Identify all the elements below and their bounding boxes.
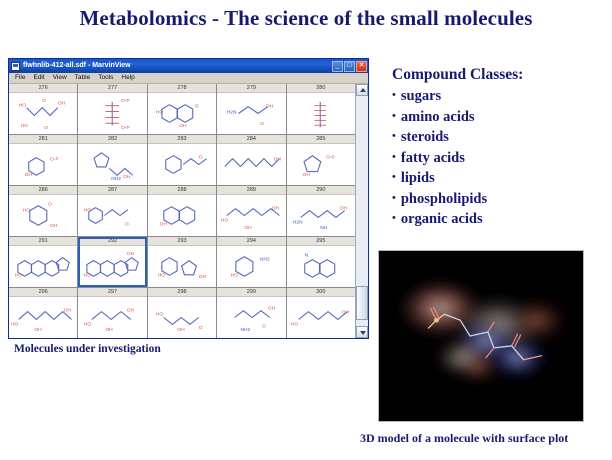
molecule-cell-id: 292 (78, 237, 146, 246)
menu-item-table[interactable]: Table (71, 73, 95, 83)
svg-text:O: O (42, 98, 46, 104)
molecule-cell[interactable]: 288OH (148, 186, 216, 236)
svg-text:HO: HO (291, 321, 299, 327)
menu-item-help[interactable]: Help (117, 73, 138, 83)
compound-class-item: sugars (392, 86, 523, 107)
close-icon: ✕ (357, 61, 366, 70)
svg-text:OH: OH (58, 101, 66, 107)
molecule-structure-arginine: H2NOHNH (287, 195, 355, 236)
molecule-cell[interactable]: 277O-PO-P (78, 84, 146, 134)
molecule-cell-id: 294 (217, 237, 285, 246)
svg-text:OH: OH (274, 157, 282, 163)
molecule-cell[interactable]: 296HOOHOH (9, 288, 77, 338)
compound-class-item: steroids (392, 127, 523, 148)
svg-text:OH: OH (123, 174, 131, 180)
svg-text:HO: HO (221, 217, 229, 223)
molecule-structure-pyrazole-amino-acid: OHNH2 (78, 144, 146, 185)
svg-text:HO: HO (84, 272, 92, 278)
molecule-structure-malic-acid: HOOHHOOO (9, 93, 77, 134)
molecule-cell[interactable]: 300HOOH (287, 288, 355, 338)
svg-text:OH: OH (106, 327, 114, 333)
molecule-cell-id: 298 (148, 288, 216, 297)
molecule-cell[interactable]: 284OH (217, 135, 285, 185)
molecule-structure-sugar-bisphosphate: O-PO-P (78, 93, 146, 134)
svg-text:NH: NH (320, 225, 328, 231)
svg-text:O: O (48, 202, 52, 208)
svg-text:OH: OH (64, 308, 72, 314)
compound-class-item: fatty acids (392, 148, 523, 169)
molecule-structure-open-chain-polyol: HOOHOH (217, 195, 285, 236)
molecule-cell-id: 282 (78, 135, 146, 144)
maximize-button[interactable]: □ (344, 61, 355, 72)
compound-classes-heading: Compound Classes: (392, 66, 523, 84)
svg-text:O: O (199, 155, 203, 161)
svg-text:HO: HO (84, 208, 92, 214)
scroll-up-arrow[interactable] (356, 84, 368, 96)
svg-text:NH2: NH2 (241, 327, 251, 333)
molecule-structure-pyranose-sugar: HOOHO (9, 195, 77, 236)
svg-text:HO: HO (84, 321, 92, 327)
svg-text:OH: OH (245, 225, 253, 231)
molecule-cell[interactable]: 293HOOH (148, 237, 216, 287)
svg-text:OH: OH (127, 251, 135, 257)
svg-text:HO: HO (158, 272, 166, 278)
molecule-cell-id: 299 (217, 288, 285, 297)
menu-item-tools[interactable]: Tools (94, 73, 117, 83)
compound-class-item: organic acids (392, 209, 523, 230)
molecule-structure-erythritol: HOOHOH (9, 297, 77, 338)
molecule-cell[interactable]: 282OHNH2 (78, 135, 146, 185)
svg-text:OH: OH (179, 123, 187, 129)
molecule-cell-id: 291 (9, 237, 77, 246)
molecule-cell[interactable]: 276HOOHHOOO (9, 84, 77, 134)
molecule-cell[interactable]: 279H2NOHO (217, 84, 285, 134)
molecule-cell-id: 297 (78, 288, 146, 297)
molecule-cell[interactable]: 299OHONH2 (217, 288, 285, 338)
svg-text:OH: OH (302, 172, 310, 178)
molecule-structure-chain-diol: HOOH (287, 297, 355, 338)
svg-text:OH: OH (339, 206, 347, 212)
svg-text:N: N (304, 253, 308, 259)
svg-text:HO: HO (156, 312, 164, 318)
window-title: flwhnlib-412-all.sdf - MarvinView (23, 61, 332, 71)
svg-text:O: O (125, 221, 129, 227)
scrollbar-track[interactable] (356, 96, 368, 326)
molecule-cell[interactable]: 297HOOHOH (78, 288, 146, 338)
molecule-grid: 276HOOHHOOO277O-PO-P278HOOHO279H2NOHO280… (9, 84, 355, 338)
molecule-cell-id: 287 (78, 186, 146, 195)
molecule-app-icon (11, 62, 20, 71)
svg-text:O: O (44, 125, 48, 131)
molecule-cell[interactable]: 285O-POH (287, 135, 355, 185)
marvinview-window: flwhnlib-412-all.sdf - MarvinView _ □ ✕ … (8, 58, 369, 339)
menu-item-edit[interactable]: Edit (29, 73, 48, 83)
svg-text:OH: OH (25, 172, 33, 178)
molecule-cell[interactable]: 283O (148, 135, 216, 185)
svg-text:O: O (260, 121, 264, 127)
svg-text:O: O (262, 323, 266, 329)
molecule-structure-threonine: OHONH2 (217, 297, 285, 338)
molecule-structure-glycerol: HOOHOH (78, 297, 146, 338)
3d-model-graphic (379, 251, 583, 421)
molecule-cell-id: 289 (217, 186, 285, 195)
molecule-cell[interactable]: 294HONH2 (217, 237, 285, 287)
caption-3d-model: 3D model of a molecule with surface plot (360, 431, 568, 446)
molecule-structure-phenoxy-ester: HOO (78, 195, 146, 236)
menu-item-file[interactable]: File (11, 73, 29, 83)
svg-text:HO: HO (11, 321, 19, 327)
molecule-structure-amino-sugar: HONH2 (217, 246, 285, 287)
molecule-structure-glycine: H2NOHO (217, 93, 285, 134)
window-buttons: _ □ ✕ (332, 61, 367, 72)
compound-class-item: amino acids (392, 107, 523, 128)
svg-text:O: O (199, 325, 203, 331)
svg-text:NH2: NH2 (112, 176, 122, 182)
molecule-cell[interactable]: 295N (287, 237, 355, 287)
molecule-structure-tetrahydroquinoline: N (287, 246, 355, 287)
svg-text:OH: OH (341, 310, 349, 316)
minimize-button[interactable]: _ (332, 61, 343, 72)
menu-bar: File Edit View Table Tools Help (9, 73, 368, 84)
molecule-cell[interactable]: 292HOOH (78, 237, 146, 287)
svg-text:OH: OH (177, 327, 185, 333)
molecule-cell[interactable]: 290H2NOHNH (287, 186, 355, 236)
scroll-down-arrow[interactable] (356, 326, 368, 338)
svg-text:OH: OH (50, 223, 58, 229)
compound-classes-list: sugarsamino acidssteroidsfatty acidslipi… (392, 86, 523, 230)
molecule-cell-id: 300 (287, 288, 355, 297)
molecule-cell-id: 281 (9, 135, 77, 144)
compound-class-item: phospholipids (392, 189, 523, 210)
molecule-cell-id: 296 (9, 288, 77, 297)
minimize-icon: _ (333, 61, 342, 70)
molecule-structure-sugar-phosphate: O-POH (9, 144, 77, 185)
svg-text:OH: OH (266, 104, 274, 110)
svg-text:HO: HO (21, 123, 29, 129)
molecule-grid-body: 276HOOHHOOO277O-PO-P278HOOHO279H2NOHO280… (9, 84, 368, 338)
svg-text:HO: HO (231, 272, 239, 278)
molecule-structure-steroid: HO (9, 246, 77, 287)
svg-text:OH: OH (268, 306, 276, 312)
molecule-cell-id: 279 (217, 84, 285, 93)
svg-text:HO: HO (23, 208, 31, 214)
molecule-cell-id: 278 (148, 84, 216, 93)
window-titlebar[interactable]: flwhnlib-412-all.sdf - MarvinView _ □ ✕ (9, 59, 368, 73)
svg-text:HO: HO (19, 103, 27, 109)
svg-text:NH2: NH2 (260, 257, 270, 263)
molecule-cell-id: 280 (287, 84, 355, 93)
molecule-cell[interactable]: 289HOOHOH (217, 186, 285, 236)
molecule-structure-linear-chain-acid (287, 93, 355, 134)
molecule-structure-steroid-hydroxy: HOOH (78, 246, 146, 287)
molecule-cell-id: 276 (9, 84, 77, 93)
svg-text:OH: OH (127, 308, 135, 314)
molecule-cell[interactable]: 298HOOOH (148, 288, 216, 338)
molecule-cell[interactable]: 278HOOHO (148, 84, 216, 134)
scrollbar-thumb[interactable] (356, 286, 368, 320)
compound-classes-block: Compound Classes: sugarsamino acidsstero… (392, 66, 523, 230)
molecule-cell[interactable]: 287HOO (78, 186, 146, 236)
molecule-cell-id: 290 (287, 186, 355, 195)
molecule-cell-id: 277 (78, 84, 146, 93)
page-title: Metabolomics - The science of the small … (0, 6, 612, 31)
molecule-cell-id: 288 (148, 186, 216, 195)
svg-text:HO: HO (156, 110, 164, 116)
compound-class-item: lipids (392, 168, 523, 189)
molecule-structure-unsaturated-fatty-acid: OH (217, 144, 285, 185)
molecule-cell[interactable]: 281O-POH (9, 135, 77, 185)
molecule-cell-id: 293 (148, 237, 216, 246)
svg-text:H2N: H2N (227, 110, 237, 116)
svg-text:O: O (195, 104, 199, 110)
molecule-structure-flavanone: HOOHO (148, 93, 216, 134)
molecule-cell[interactable]: 286HOOHO (9, 186, 77, 236)
molecule-cell[interactable]: 291HO (9, 237, 77, 287)
menu-item-view[interactable]: View (49, 73, 71, 83)
svg-text:OH: OH (272, 206, 280, 212)
molecule-structure-ribose-phosphate: O-POH (287, 144, 355, 185)
molecule-structure-glyceraldehyde: HOOOH (148, 297, 216, 338)
molecule-cell[interactable]: 280 (287, 84, 355, 134)
molecule-cell-id: 284 (217, 135, 285, 144)
maximize-icon: □ (345, 61, 354, 70)
svg-text:H2N: H2N (292, 219, 302, 225)
vertical-scrollbar[interactable] (355, 84, 368, 338)
svg-text:O-P: O-P (326, 155, 335, 161)
svg-text:O-P: O-P (121, 98, 130, 104)
molecule-structure-naphthalenol: OH (148, 195, 216, 236)
molecule-cell-id: 283 (148, 135, 216, 144)
3d-molecule-surface-plot (378, 250, 584, 422)
molecule-cell-id: 295 (287, 237, 355, 246)
svg-text:OH: OH (199, 274, 207, 280)
close-button[interactable]: ✕ (356, 61, 367, 72)
svg-text:O-P: O-P (121, 125, 130, 131)
molecule-structure-terpenoid-ketone: O (148, 144, 216, 185)
svg-text:OH: OH (160, 221, 168, 227)
caption-molecules: Molecules under investigation (14, 343, 161, 355)
svg-text:OH: OH (34, 327, 42, 333)
molecule-cell-id: 286 (9, 186, 77, 195)
svg-text:O-P: O-P (50, 157, 59, 163)
molecule-structure-glycoside: HOOH (148, 246, 216, 287)
molecule-cell-id: 285 (287, 135, 355, 144)
svg-text:HO: HO (15, 272, 23, 278)
